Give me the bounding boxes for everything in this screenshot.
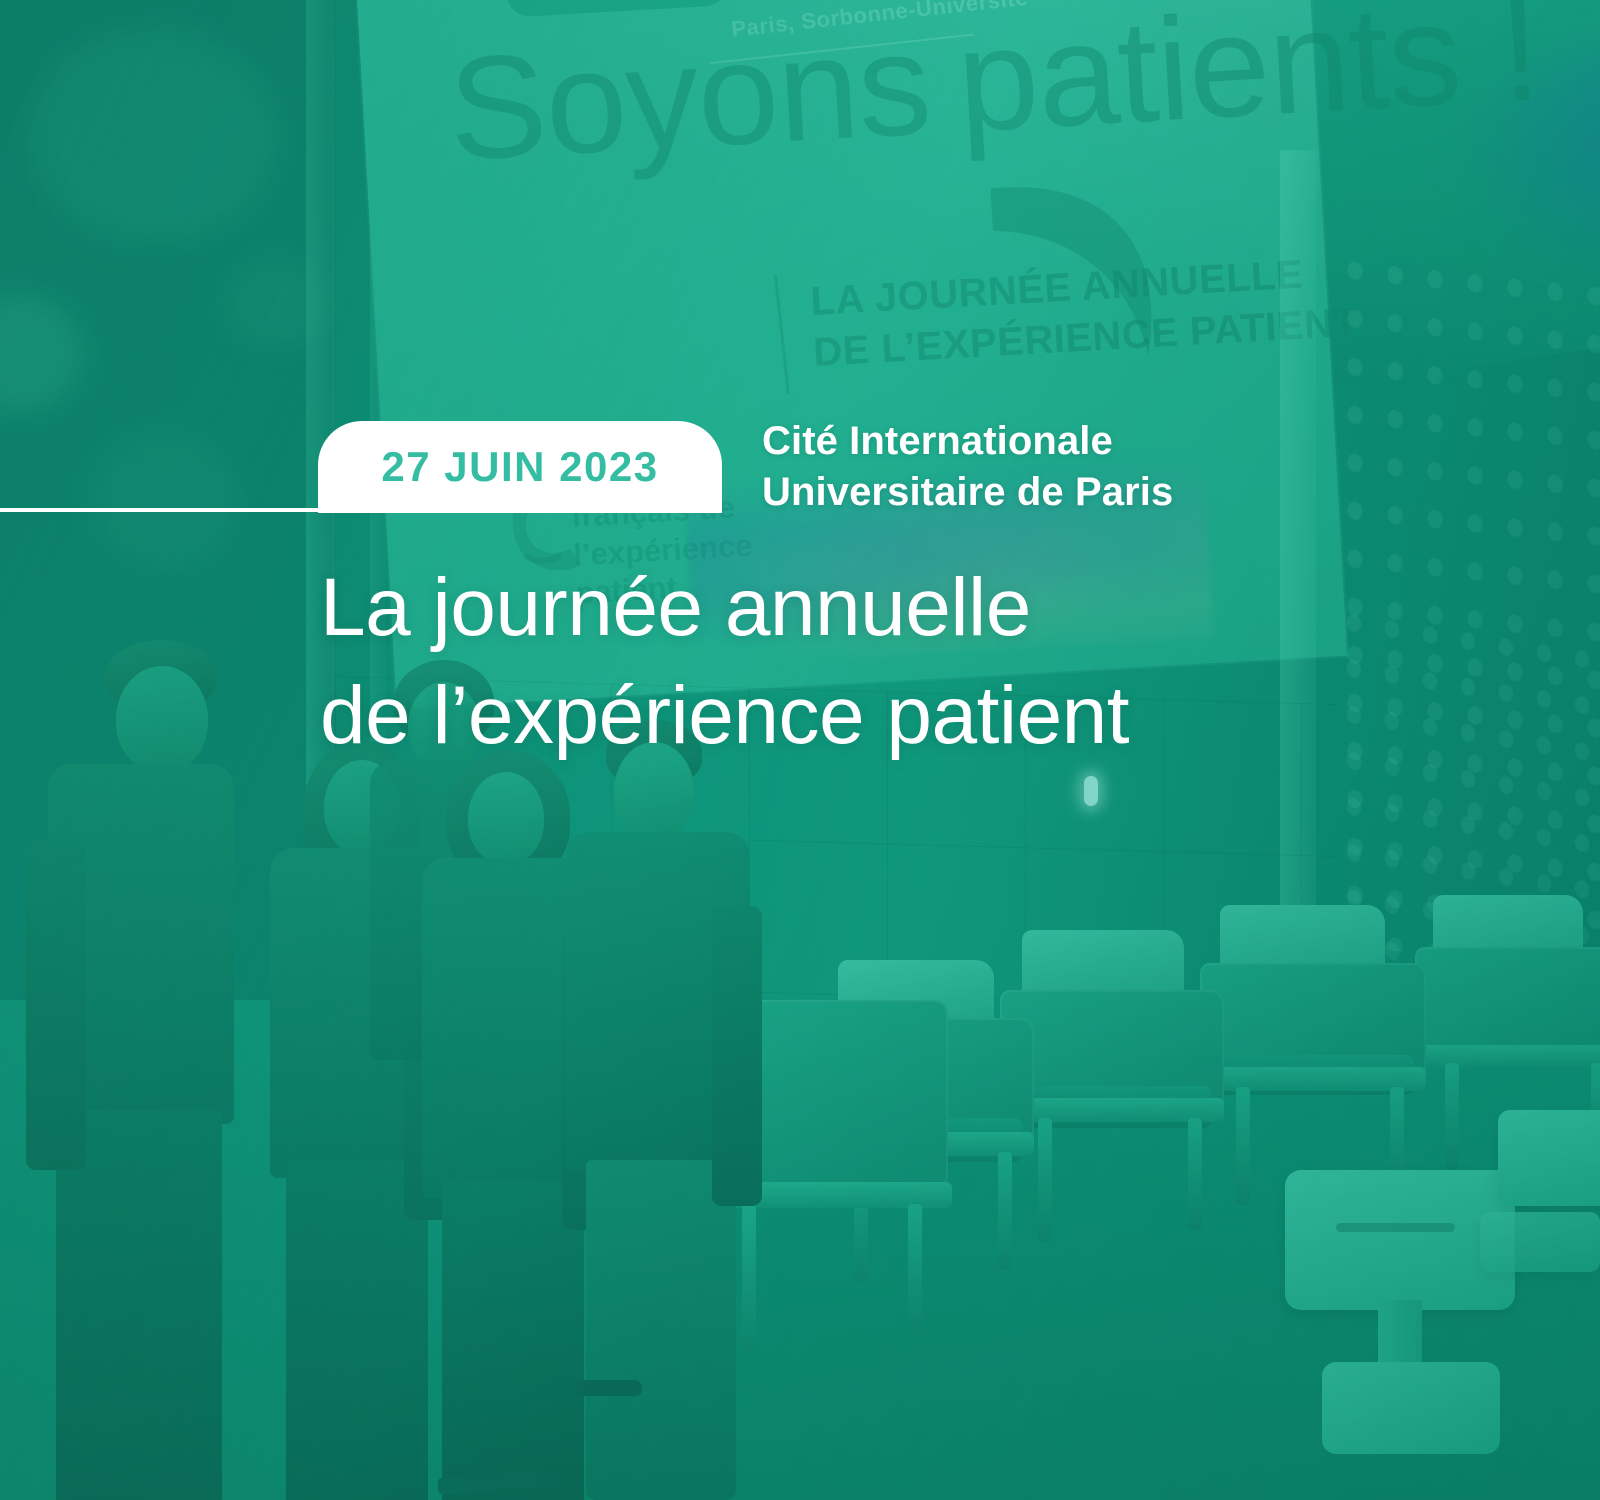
date-badge-label: 27 JUIN 2023 <box>381 443 658 491</box>
accent-rule <box>0 508 340 512</box>
headline-line-1: La journée annuelle <box>320 554 1129 662</box>
headline-line-2: de l’expérience patient <box>320 662 1129 770</box>
venue-line-2: Universitaire de Paris <box>762 467 1173 518</box>
date-badge: 27 JUIN 2023 <box>318 421 722 513</box>
page-title: La journée annuelle de l’expérience pati… <box>320 554 1129 770</box>
venue-line-1: Cité Internationale <box>762 416 1173 467</box>
event-hero-banner: 23 juin 2022 Paris, Sorbonne-Université … <box>0 0 1600 1500</box>
venue-text: Cité Internationale Universitaire de Par… <box>762 416 1173 518</box>
